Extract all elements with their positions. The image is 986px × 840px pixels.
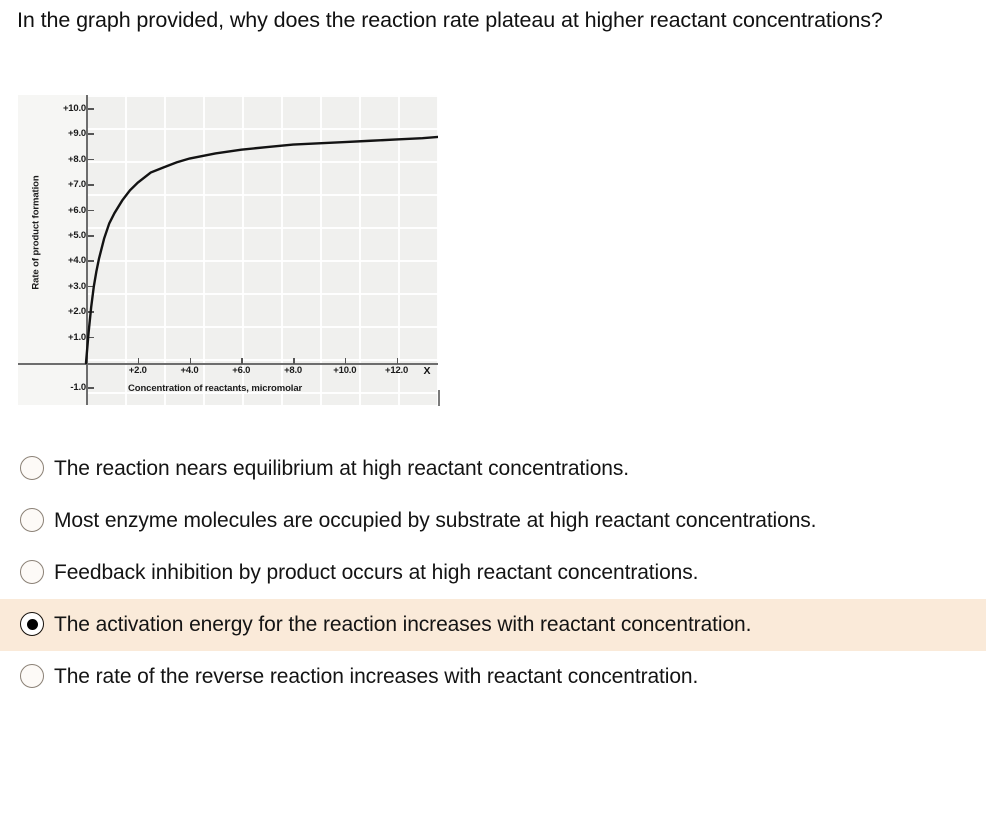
radio-button-icon[interactable] — [20, 508, 44, 532]
answer-option-1[interactable]: The reaction nears equilibrium at high r… — [0, 443, 986, 495]
radio-button-icon[interactable] — [20, 560, 44, 584]
saturation-curve — [18, 95, 438, 405]
radio-button-selected-icon[interactable] — [20, 612, 44, 636]
answer-option-label: The reaction nears equilibrium at high r… — [54, 455, 629, 483]
answer-option-label: Most enzyme molecules are occupied by su… — [54, 507, 816, 535]
answer-option-label: The activation energy for the reaction i… — [54, 611, 751, 639]
answer-option-label: Feedback inhibition by product occurs at… — [54, 559, 698, 587]
answer-options: The reaction nears equilibrium at high r… — [0, 443, 986, 703]
radio-button-icon[interactable] — [20, 664, 44, 688]
radio-button-icon[interactable] — [20, 456, 44, 480]
answer-option-2[interactable]: Most enzyme molecules are occupied by su… — [0, 495, 986, 547]
answer-option-4[interactable]: The activation energy for the reaction i… — [0, 599, 986, 651]
graph-figure: +10.0+9.0+8.0+7.0+6.0+5.0+4.0+3.0+2.0+1.… — [18, 95, 438, 405]
answer-option-5[interactable]: The rate of the reverse reaction increas… — [0, 651, 986, 703]
figure-edge-mark — [438, 390, 440, 406]
question-stem: In the graph provided, why does the reac… — [17, 6, 907, 35]
answer-option-3[interactable]: Feedback inhibition by product occurs at… — [0, 547, 986, 599]
answer-option-label: The rate of the reverse reaction increas… — [54, 663, 698, 691]
